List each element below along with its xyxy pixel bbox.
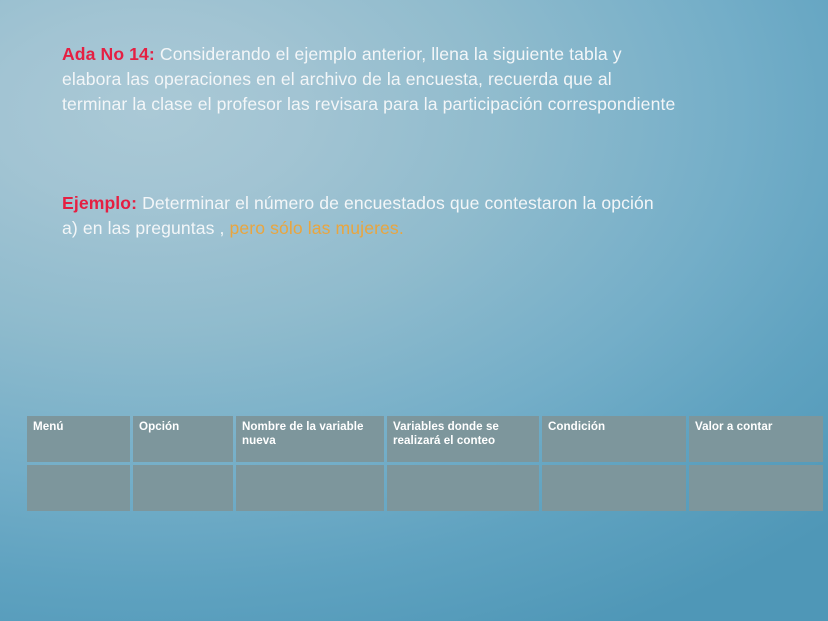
slide-canvas: Ada No 14: Considerando el ejemplo anter…	[0, 0, 828, 621]
table-header-condicion: Condición	[542, 416, 686, 462]
paragraph-ejemplo: Ejemplo: Determinar el número de encuest…	[62, 191, 662, 241]
table-cell-valor-a-contar[interactable]	[689, 465, 823, 511]
table-header-valor-a-contar: Valor a contar	[689, 416, 823, 462]
ada-label: Ada No 14:	[62, 44, 155, 64]
table-cell-condicion[interactable]	[542, 465, 686, 511]
table-header-opcion: Opción	[133, 416, 233, 462]
table-row	[27, 465, 823, 511]
table-cell-opcion[interactable]	[133, 465, 233, 511]
table-header-variables-conteo: Variables donde se realizará el conteo	[387, 416, 539, 462]
ejemplo-highlight-text: pero sólo las mujeres.	[230, 218, 404, 238]
table-header-menu: Menú	[27, 416, 130, 462]
table-cell-menu[interactable]	[27, 465, 130, 511]
variable-definition-table: Menú Opción Nombre de la variable nueva …	[24, 413, 826, 514]
paragraph-ada-instructions: Ada No 14: Considerando el ejemplo anter…	[62, 42, 676, 116]
table-header-row: Menú Opción Nombre de la variable nueva …	[27, 416, 823, 462]
table-header-nombre-variable-nueva: Nombre de la variable nueva	[236, 416, 384, 462]
ada-body-text: Considerando el ejemplo anterior, llena …	[62, 44, 675, 114]
table-cell-variables-conteo[interactable]	[387, 465, 539, 511]
ejemplo-label: Ejemplo:	[62, 193, 137, 213]
table-cell-nombre-variable-nueva[interactable]	[236, 465, 384, 511]
